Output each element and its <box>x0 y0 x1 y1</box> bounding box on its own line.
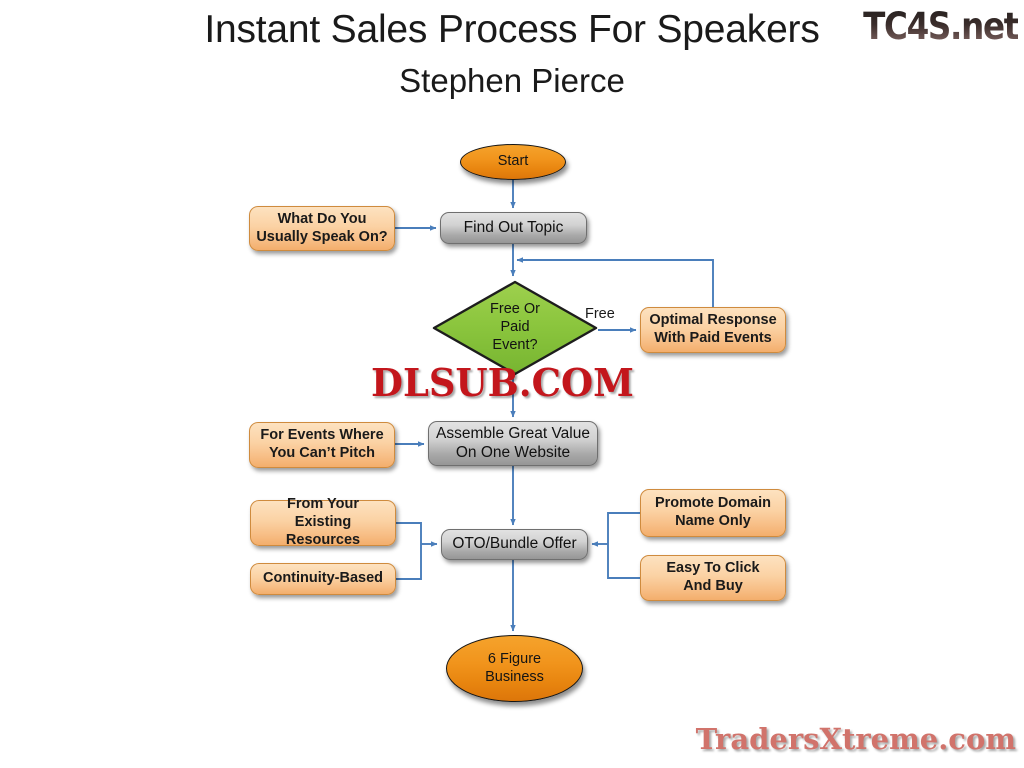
dlsub-watermark: DLSUB.COM <box>371 360 634 405</box>
edge-easy-stem <box>608 544 640 578</box>
node-for-events-where-you-cant-pitch[interactable]: For Events Where You Can’t Pitch <box>249 422 395 468</box>
edge-contin-stem <box>396 544 421 579</box>
node-promote-domain-name-only[interactable]: Promote Domain Name Only <box>640 489 786 537</box>
node-easy-to-click-and-buy-label: Easy To Click And Buy <box>641 560 785 595</box>
node-start[interactable]: Start <box>460 144 566 180</box>
node-free-or-paid-event-label: Free Or Paid Event? <box>432 301 598 354</box>
node-assemble-great-value[interactable]: Assemble Great Value On One Website <box>428 421 598 466</box>
node-for-events-label: For Events Where You Can’t Pitch <box>250 427 394 462</box>
node-optimal-response-with-paid-events[interactable]: Optimal Response With Paid Events <box>640 307 786 353</box>
node-find-out-topic-label: Find Out Topic <box>441 219 586 238</box>
node-what-do-you-usually-speak-on[interactable]: What Do You Usually Speak On? <box>249 206 395 251</box>
dlsub-watermark-text: DLSUB.COM <box>371 360 634 405</box>
node-easy-to-click-and-buy[interactable]: Easy To Click And Buy <box>640 555 786 601</box>
node-start-label: Start <box>461 153 565 171</box>
node-what-do-you-usually-speak-on-label: What Do You Usually Speak On? <box>250 211 394 246</box>
node-continuity-based-label: Continuity-Based <box>251 570 395 588</box>
node-6-figure-business[interactable]: 6 Figure Business <box>446 635 583 702</box>
node-from-your-existing-resources-label: From Your Existing Resources <box>251 496 395 549</box>
edge-existing-stem <box>396 523 421 544</box>
node-continuity-based[interactable]: Continuity-Based <box>250 563 396 595</box>
node-6-figure-business-label: 6 Figure Business <box>447 651 582 686</box>
node-find-out-topic[interactable]: Find Out Topic <box>440 212 587 244</box>
tradersxtreme-watermark: TradersXtreme.com <box>696 722 1016 756</box>
node-oto-bundle-offer-label: OTO/Bundle Offer <box>442 535 587 554</box>
node-oto-bundle-offer[interactable]: OTO/Bundle Offer <box>441 529 588 560</box>
node-from-your-existing-resources[interactable]: From Your Existing Resources <box>250 500 396 546</box>
edge-promote-stem <box>608 513 640 544</box>
node-promote-domain-name-only-label: Promote Domain Name Only <box>641 495 785 530</box>
node-assemble-great-value-label: Assemble Great Value On One Website <box>429 425 597 463</box>
node-optimal-response-label: Optimal Response With Paid Events <box>641 312 785 347</box>
